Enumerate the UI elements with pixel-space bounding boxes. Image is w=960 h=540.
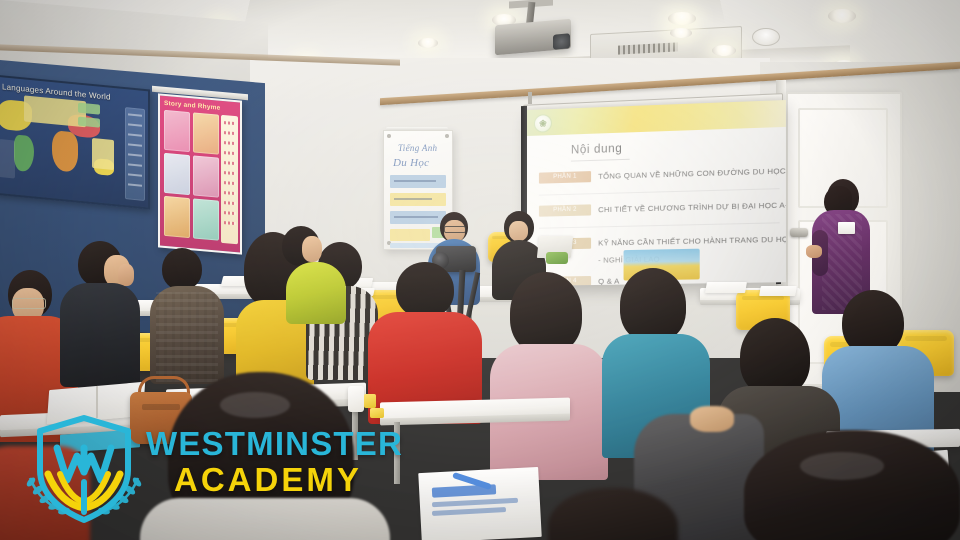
hair: [620, 268, 686, 342]
poster-cell: [193, 155, 219, 197]
hand: [690, 406, 734, 432]
shield-logo-icon: [24, 412, 144, 530]
agenda-text: TỔNG QUAN VỀ NHỮNG CON ĐƯỜNG DU HỌC: [598, 166, 786, 181]
poster-text-block: [0, 139, 15, 179]
slide-logo-icon: ❀: [534, 114, 552, 133]
westminster-academy-watermark: WESTMINSTER ACADEMY: [24, 412, 364, 530]
downlight: [668, 12, 696, 25]
slide-title: Nội dung: [571, 143, 622, 157]
agenda-row: PHẦN 3 KỸ NĂNG CẦN THIẾT CHO HÀNH TRANG …: [539, 233, 780, 250]
continent-south-america: [14, 134, 34, 172]
door-handle[interactable]: [790, 228, 808, 237]
continent-africa: [52, 130, 78, 173]
projector-lens: [553, 33, 570, 49]
cup: [348, 386, 364, 412]
sticky-note: [370, 408, 384, 418]
poster-callout: [92, 138, 114, 170]
agenda-row: PHẦN 2 CHI TIẾT VỀ CHƯƠNG TRÌNH DỰ BỊ ĐẠ…: [539, 198, 780, 216]
watermark-line-1: WESTMINSTER: [146, 426, 403, 462]
poster-story-rhyme: Story and Rhyme: [158, 93, 242, 254]
screen-rod: [528, 92, 532, 104]
paper: [705, 282, 747, 293]
downlight: [418, 38, 438, 48]
classroom-photo: Languages Around the World Story and Rhy…: [0, 0, 960, 540]
poster-cell: [164, 110, 190, 152]
glasses-icon: [12, 298, 46, 309]
hair: [510, 272, 582, 354]
watermark-line-2: ACADEMY: [174, 462, 403, 498]
downlight: [828, 9, 856, 23]
glasses-icon: [444, 226, 466, 233]
hair: [396, 262, 454, 318]
agenda-text: KỸ NĂNG CẦN THIẾT CHO HÀNH TRANG DU HỌC: [598, 234, 786, 247]
agenda-tag: PHẦN 1: [539, 171, 591, 184]
poster-cell: [193, 112, 219, 154]
yellow-green-jacket: [286, 262, 346, 324]
presenter-hand: [806, 245, 822, 258]
downlight: [712, 45, 736, 56]
flipchart-band: [390, 229, 430, 241]
paper: [759, 286, 797, 296]
face: [509, 221, 528, 241]
poster-cell: [164, 196, 190, 238]
coat-pattern: [156, 292, 218, 382]
poster-cell: [193, 198, 219, 240]
presenter-name-badge: [838, 222, 855, 234]
plant: [546, 252, 568, 264]
agenda-text: CHI TIẾT VỀ CHƯƠNG TRÌNH DỰ BỊ ĐẠI HỌC A…: [598, 200, 786, 214]
poster-callout: [78, 103, 100, 115]
flipchart-title-line2: Du Học: [393, 157, 429, 169]
smoke-detector-icon: [752, 28, 780, 46]
poster-callout: [24, 95, 86, 127]
bag-flap: [142, 404, 180, 410]
face: [302, 236, 322, 262]
hair: [744, 430, 960, 540]
slide-title-rule: [571, 159, 630, 162]
agenda-row: PHẦN 1 TỔNG QUAN VỀ NHỮNG CON ĐƯỜNG DU H…: [539, 164, 780, 183]
poster-world-map: Languages Around the World: [0, 74, 150, 209]
agenda-tag: PHẦN 2: [539, 204, 591, 216]
hand: [118, 264, 134, 286]
downlight: [670, 28, 692, 38]
agenda-text: Q & A: [598, 276, 619, 285]
dark-jacket: [60, 283, 140, 387]
flipchart-title-line1: Tiếng Anh: [398, 143, 437, 153]
sticky-note: [364, 394, 376, 408]
poster-cell: [164, 153, 190, 195]
hair: [162, 248, 202, 290]
hair: [740, 318, 810, 396]
